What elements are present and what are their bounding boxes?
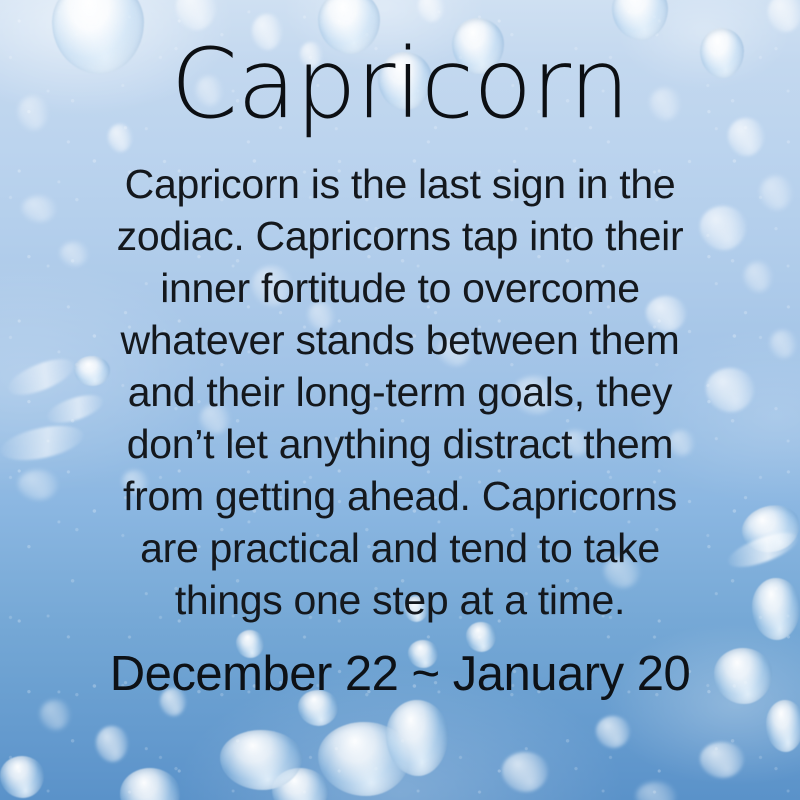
page-title: Capricorn	[171, 0, 630, 134]
zodiac-card: Capricorn Capricorn is the last sign in …	[0, 0, 800, 800]
sign-description: Capricorn is the last sign in the zodiac…	[90, 134, 710, 626]
card-content: Capricorn Capricorn is the last sign in …	[0, 0, 800, 800]
date-range: December 22 ~ January 20	[110, 626, 690, 702]
